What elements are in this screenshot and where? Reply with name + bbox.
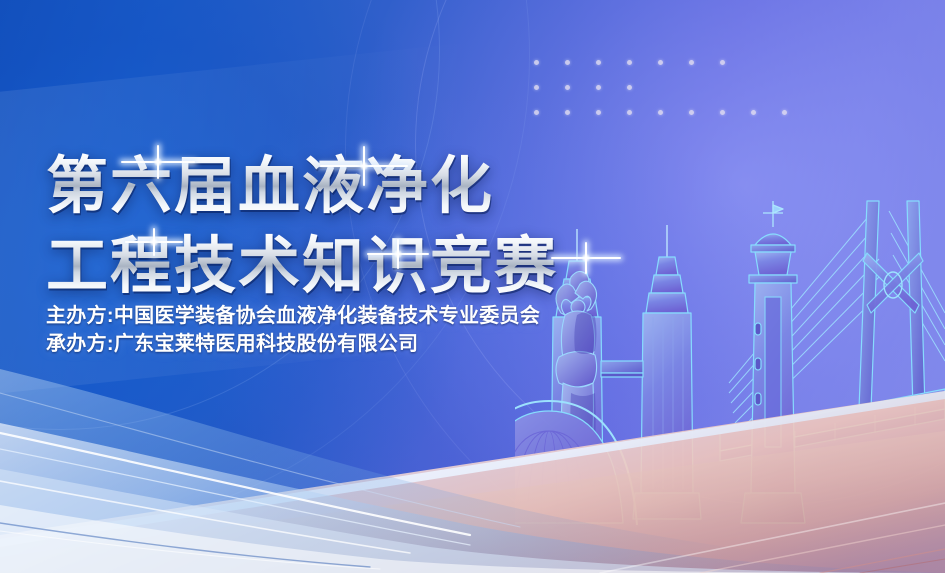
- dot-icon: [565, 85, 570, 90]
- dot-grid-row: [534, 60, 751, 65]
- co-organizer-line: 承办方:广东宝莱特医用科技股份有限公司: [46, 330, 540, 358]
- dot-icon: [596, 110, 601, 115]
- dot-icon: [720, 60, 725, 65]
- dot-icon: [782, 110, 787, 115]
- dot-icon: [534, 85, 539, 90]
- event-banner: 第六届血液净化 工程技术知识竞赛 主办方:中国医学装备协会血液净化装备技术专业委…: [0, 0, 945, 573]
- dot-icon: [689, 110, 694, 115]
- dot-icon: [596, 60, 601, 65]
- dot-icon: [658, 110, 663, 115]
- dot-icon: [627, 85, 632, 90]
- dot-icon: [534, 110, 539, 115]
- dot-grid-decoration: [534, 54, 854, 154]
- dot-grid-row: [534, 85, 658, 90]
- dot-grid-row: [534, 110, 813, 115]
- dot-icon: [627, 60, 632, 65]
- dot-icon: [689, 60, 694, 65]
- title-line-1: 第六届血液净化: [46, 150, 696, 224]
- dot-icon: [627, 110, 632, 115]
- title-line-2: 工程技术知识竞赛: [46, 230, 696, 304]
- dot-icon: [565, 110, 570, 115]
- dot-icon: [596, 85, 601, 90]
- dot-icon: [534, 60, 539, 65]
- dot-icon: [658, 60, 663, 65]
- dot-icon: [751, 110, 756, 115]
- dot-icon: [720, 110, 725, 115]
- banner-subtitles: 主办方:中国医学装备协会血液净化装备技术专业委员会 承办方:广东宝莱特医用科技股…: [46, 302, 540, 358]
- banner-title: 第六届血液净化 工程技术知识竞赛: [46, 150, 696, 304]
- organizer-line: 主办方:中国医学装备协会血液净化装备技术专业委员会: [46, 302, 540, 330]
- dot-icon: [565, 60, 570, 65]
